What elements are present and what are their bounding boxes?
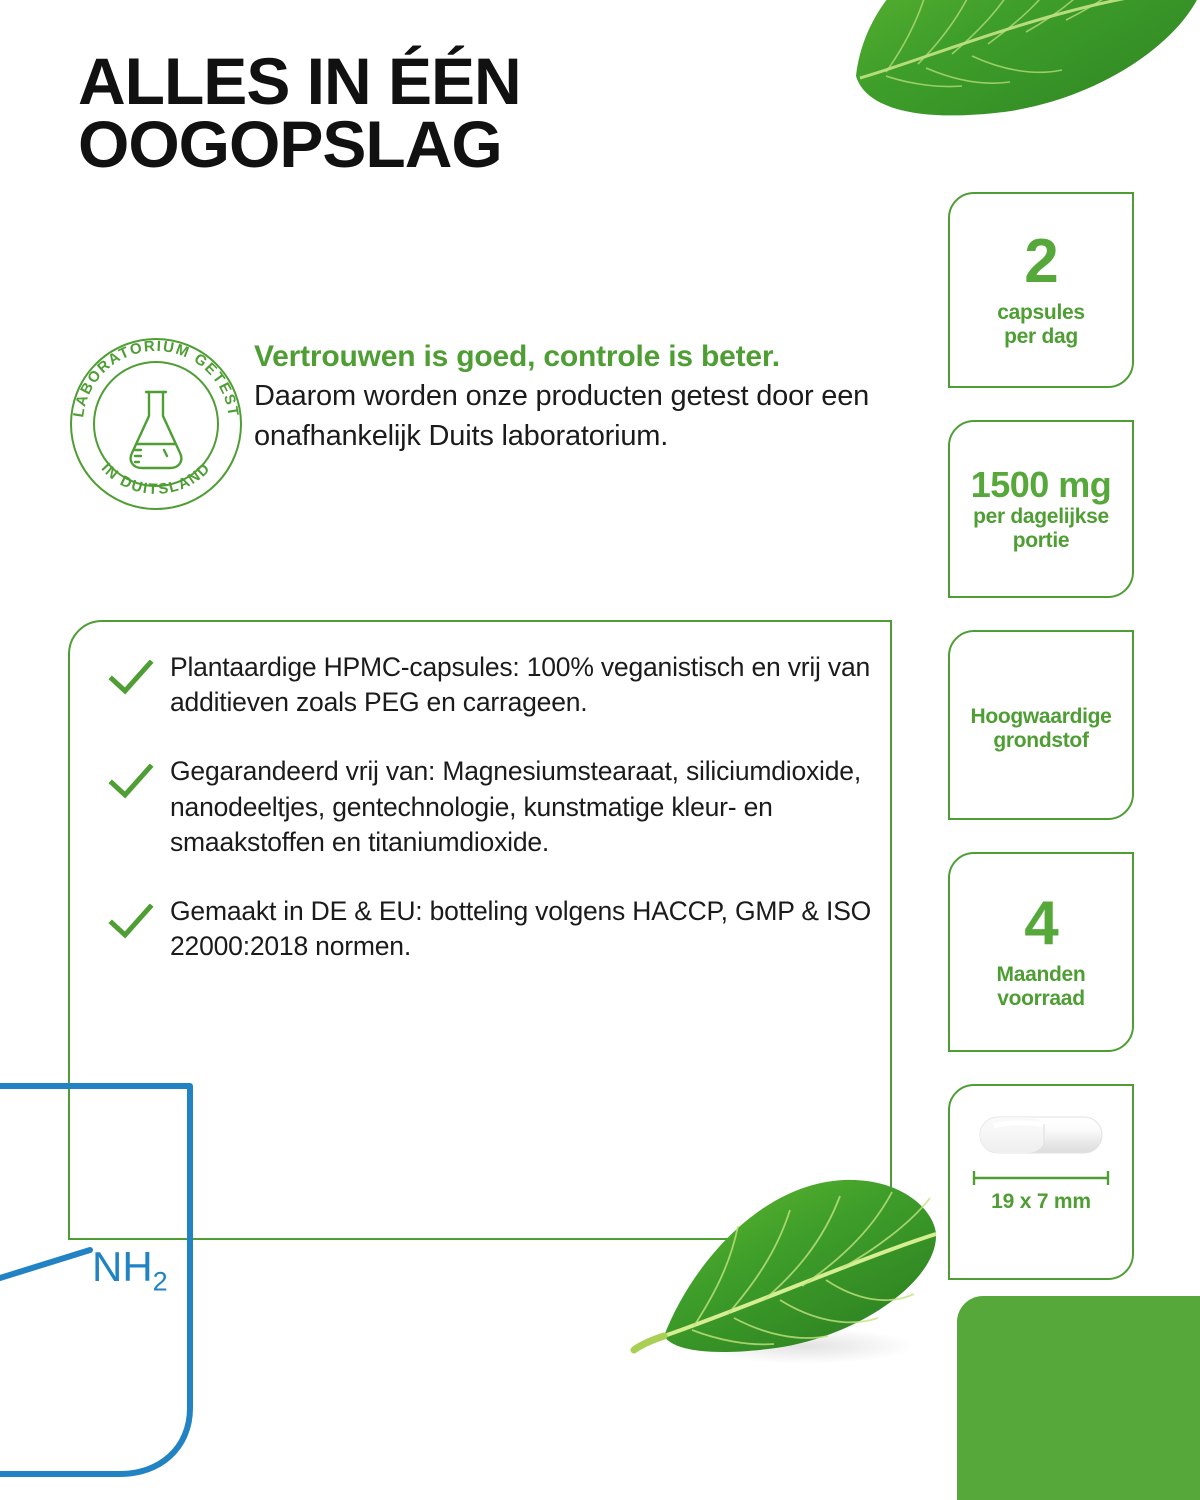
spec-label: Maanden voorraad: [997, 963, 1086, 1010]
trust-block: Vertrouwen is goed, controle is beter. D…: [254, 338, 914, 456]
check-icon: [108, 752, 170, 805]
molecule-label-sub: 2: [153, 1266, 168, 1296]
list-item: Gemaakt in DE & EU: botteling volgens HA…: [108, 892, 908, 964]
spec-label-line1: capsules: [997, 301, 1085, 325]
molecule-label: NH2: [92, 1243, 168, 1297]
feature-text: Gegarandeerd vrij van: Magnesiumstearaat…: [170, 752, 908, 860]
leaf-icon-bottom: [630, 1148, 940, 1370]
page-title: ALLES IN ÉÉN OOGOPSLAG: [78, 50, 838, 175]
spec-label: capsules per dag: [997, 301, 1085, 348]
trust-body: Daarom worden onze producten getest door…: [254, 376, 914, 456]
spec-label: Hoogwaardige grondstof: [970, 705, 1111, 752]
infographic-page: ALLES IN ÉÉN OOGOPSLAG: [0, 0, 1200, 1500]
spec-label-line2: portie: [973, 529, 1109, 553]
measure-line-icon: [970, 1170, 1112, 1186]
feature-list: Plantaardige HPMC-capsules: 100% veganis…: [108, 648, 908, 997]
spec-label: per dagelijkse portie: [973, 505, 1109, 552]
svg-text:IN DUITSLAND: IN DUITSLAND: [98, 459, 214, 498]
check-icon: [108, 892, 170, 945]
page-title-line2: OOGOPSLAG: [78, 113, 838, 176]
feature-text: Plantaardige HPMC-capsules: 100% veganis…: [170, 648, 908, 720]
badge-arc-bottom: IN DUITSLAND: [98, 459, 214, 498]
list-item: Gegarandeerd vrij van: Magnesiumstearaat…: [108, 752, 908, 860]
spec-card-quality: Hoogwaardige grondstof: [948, 630, 1134, 820]
lab-tested-badge: LABORATORIUM GETEST IN DUITSLAND: [68, 336, 244, 512]
trust-headline: Vertrouwen is goed, controle is beter.: [254, 338, 914, 376]
capsule-size-label: 19 x 7 mm: [991, 1190, 1091, 1214]
list-item: Plantaardige HPMC-capsules: 100% veganis…: [108, 648, 908, 720]
spec-card-size: 19 x 7 mm: [948, 1084, 1134, 1280]
spec-card-dose: 1500 mg per dagelijkse portie: [948, 420, 1134, 598]
flask-icon: [131, 392, 182, 468]
capsule-icon: [978, 1112, 1104, 1158]
spec-value: 4: [1024, 893, 1057, 955]
spec-card-capsules: 2 capsules per dag: [948, 192, 1134, 388]
molecule-label-text: NH: [92, 1243, 153, 1290]
spec-card-supply: 4 Maanden voorraad: [948, 852, 1134, 1052]
feature-text: Gemaakt in DE & EU: botteling volgens HA…: [170, 892, 908, 964]
spec-value: 2: [1024, 231, 1057, 293]
spec-label-line1: Maanden: [997, 963, 1086, 987]
spec-value: 1500 mg: [971, 466, 1112, 504]
spec-label-line2: per dag: [997, 325, 1085, 349]
spec-label-line1: per dagelijkse: [973, 505, 1109, 529]
spec-label-line1: Hoogwaardige: [970, 705, 1111, 729]
spec-label-line2: grondstof: [970, 729, 1111, 753]
check-icon: [108, 648, 170, 701]
green-block-decor: [957, 1296, 1200, 1500]
spec-label-line2: voorraad: [997, 987, 1086, 1011]
spec-cards: 2 capsules per dag 1500 mg per dagelijks…: [948, 192, 1134, 1312]
leaf-icon-top: [826, 0, 1200, 116]
